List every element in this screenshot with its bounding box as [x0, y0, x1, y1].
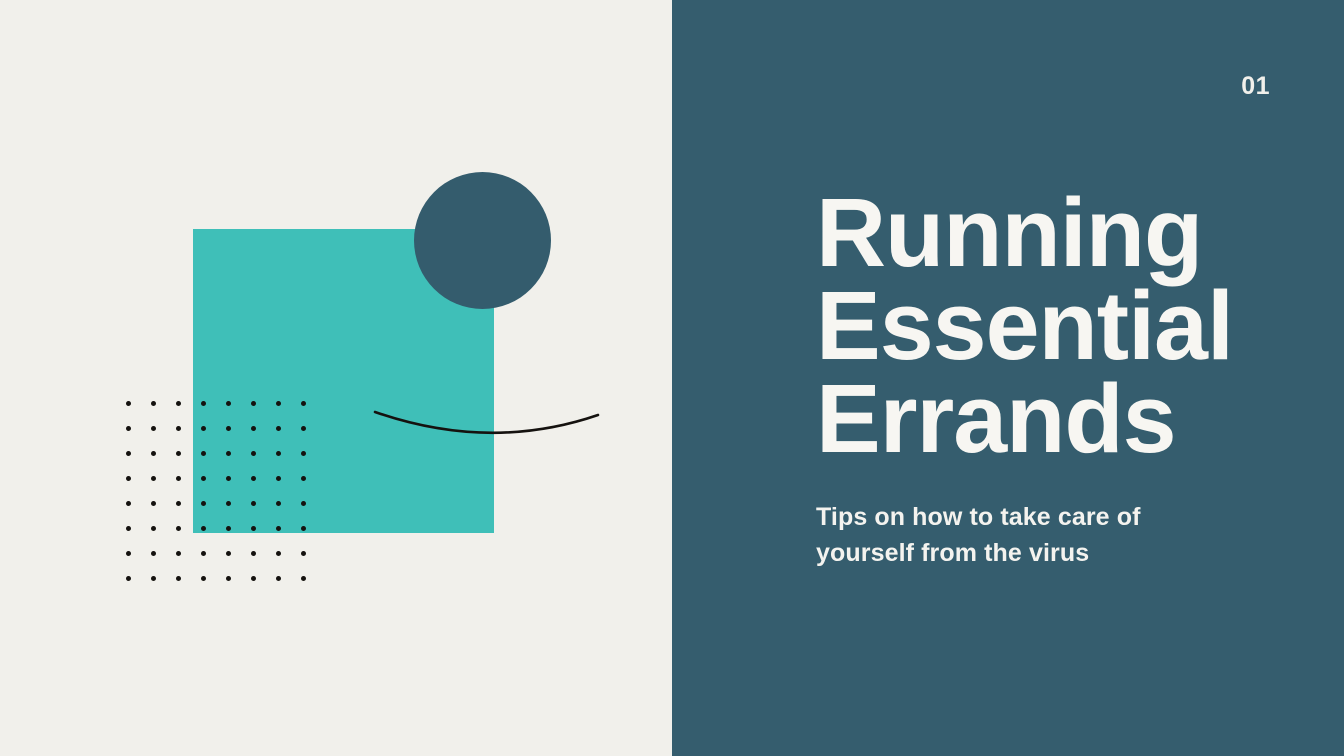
grid-dot [176, 401, 181, 406]
dot-row [126, 451, 306, 476]
grid-dot [151, 501, 156, 506]
grid-dot [226, 401, 231, 406]
dot-row [126, 426, 306, 451]
grid-dot [151, 526, 156, 531]
title-line-2: Essential [816, 279, 1316, 372]
dot-row [126, 401, 306, 426]
grid-dot [276, 426, 281, 431]
grid-dot [201, 526, 206, 531]
grid-dot [226, 451, 231, 456]
dark-circle-shape [414, 172, 551, 309]
grid-dot [201, 426, 206, 431]
grid-dot [176, 476, 181, 481]
grid-dot [251, 476, 256, 481]
page-number: 01 [1241, 74, 1270, 99]
dot-grid-pattern [126, 401, 306, 581]
grid-dot [176, 576, 181, 581]
grid-dot [301, 451, 306, 456]
grid-dot [126, 551, 131, 556]
grid-dot [151, 551, 156, 556]
grid-dot [226, 526, 231, 531]
grid-dot [151, 476, 156, 481]
grid-dot [251, 501, 256, 506]
grid-dot [151, 426, 156, 431]
grid-dot [126, 401, 131, 406]
grid-dot [126, 526, 131, 531]
grid-dot [176, 526, 181, 531]
grid-dot [226, 551, 231, 556]
grid-dot [151, 401, 156, 406]
grid-dot [176, 451, 181, 456]
grid-dot [301, 526, 306, 531]
grid-dot [151, 576, 156, 581]
grid-dot [301, 476, 306, 481]
grid-dot [201, 576, 206, 581]
dot-row [126, 526, 306, 551]
grid-dot [126, 426, 131, 431]
curved-line-accent [370, 400, 610, 450]
grid-dot [301, 576, 306, 581]
slide-title: Running Essential Errands [816, 186, 1316, 465]
grid-dot [251, 526, 256, 531]
grid-dot [251, 451, 256, 456]
title-line-1: Running [816, 186, 1316, 279]
grid-dot [226, 426, 231, 431]
grid-dot [176, 501, 181, 506]
grid-dot [176, 551, 181, 556]
grid-dot [176, 426, 181, 431]
grid-dot [201, 451, 206, 456]
grid-dot [276, 551, 281, 556]
decorative-left-panel [0, 0, 672, 756]
grid-dot [126, 451, 131, 456]
slide-subtitle: Tips on how to take care of yourself fro… [816, 499, 1236, 571]
grid-dot [201, 551, 206, 556]
grid-dot [276, 576, 281, 581]
grid-dot [201, 401, 206, 406]
grid-dot [276, 476, 281, 481]
grid-dot [226, 501, 231, 506]
grid-dot [201, 501, 206, 506]
title-line-3: Errands [816, 372, 1316, 465]
grid-dot [251, 551, 256, 556]
content-right-panel: 01 Running Essential Errands Tips on how… [672, 0, 1344, 756]
grid-dot [251, 426, 256, 431]
grid-dot [276, 501, 281, 506]
title-block: Running Essential Errands [816, 186, 1316, 465]
grid-dot [251, 576, 256, 581]
grid-dot [151, 451, 156, 456]
grid-dot [226, 476, 231, 481]
grid-dot [276, 526, 281, 531]
grid-dot [276, 451, 281, 456]
grid-dot [276, 401, 281, 406]
dot-row [126, 576, 306, 601]
grid-dot [251, 401, 256, 406]
grid-dot [201, 476, 206, 481]
grid-dot [126, 576, 131, 581]
grid-dot [301, 401, 306, 406]
subtitle-line-1: Tips on how to take care of [816, 499, 1236, 535]
grid-dot [301, 426, 306, 431]
dot-row [126, 551, 306, 576]
grid-dot [126, 501, 131, 506]
grid-dot [301, 551, 306, 556]
grid-dot [226, 576, 231, 581]
dot-row [126, 476, 306, 501]
grid-dot [126, 476, 131, 481]
grid-dot [301, 501, 306, 506]
subtitle-line-2: yourself from the virus [816, 535, 1236, 571]
subtitle-block: Tips on how to take care of yourself fro… [816, 499, 1236, 571]
presentation-slide: 01 Running Essential Errands Tips on how… [0, 0, 1344, 756]
dot-row [126, 501, 306, 526]
